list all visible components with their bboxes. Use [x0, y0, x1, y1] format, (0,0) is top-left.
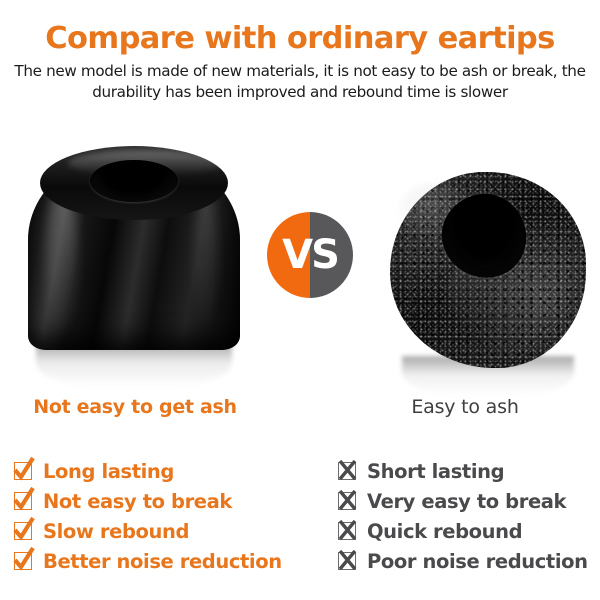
feature-row: Slow rebound: [14, 516, 282, 546]
header: Compare with ordinary eartips The new mo…: [0, 22, 600, 103]
caption-old-product: Easy to ash: [340, 396, 590, 418]
eartip-bore-opening: [90, 160, 178, 202]
porous-foam-eartip-image: [390, 172, 586, 372]
feature-row: Not easy to break: [14, 486, 282, 516]
feature-label: Quick rebound: [367, 520, 522, 543]
feature-list-new-product: Long lasting Not easy to break Slow rebo…: [14, 456, 282, 576]
product-comparison-stage: VS: [0, 130, 600, 392]
checkmark-icon: [14, 462, 32, 480]
feature-label: Short lasting: [367, 460, 504, 483]
cross-icon: [338, 462, 356, 480]
feature-label: Poor noise reduction: [367, 550, 588, 573]
checkmark-icon: [14, 552, 32, 570]
feature-row: Very easy to break: [338, 486, 588, 516]
cross-icon: [338, 522, 356, 540]
feature-list-old-product: Short lasting Very easy to break Quick r…: [338, 456, 588, 576]
page-subtitle: The new model is made of new materials, …: [0, 61, 600, 103]
vs-badge-label: VS: [267, 212, 353, 298]
feature-row: Poor noise reduction: [338, 546, 588, 576]
caption-new-product: Not easy to get ash: [0, 396, 270, 418]
feature-row: Long lasting: [14, 456, 282, 486]
checkmark-icon: [14, 522, 32, 540]
smooth-black-eartip-image: [28, 146, 240, 358]
feature-label: Better noise reduction: [43, 550, 282, 573]
vs-badge: VS: [267, 212, 353, 298]
foam-body: [390, 172, 586, 368]
checkmark-icon: [14, 492, 32, 510]
feature-label: Very easy to break: [367, 490, 566, 513]
feature-label: Long lasting: [43, 460, 174, 483]
feature-label: Not easy to break: [43, 490, 232, 513]
feature-row: Quick rebound: [338, 516, 588, 546]
page-title: Compare with ordinary eartips: [0, 22, 600, 56]
feature-row: Short lasting: [338, 456, 588, 486]
cross-icon: [338, 552, 356, 570]
feature-comparison-lists: Long lasting Not easy to break Slow rebo…: [0, 456, 600, 586]
feature-row: Better noise reduction: [14, 546, 282, 576]
feature-label: Slow rebound: [43, 520, 189, 543]
cross-icon: [338, 492, 356, 510]
